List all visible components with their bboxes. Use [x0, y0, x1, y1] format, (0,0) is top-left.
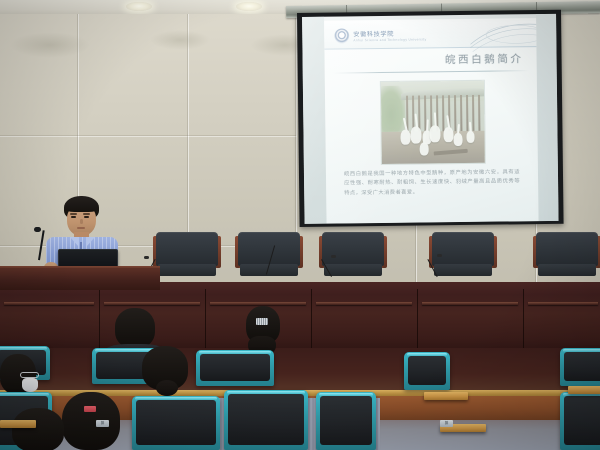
auditorium-seat[interactable] — [196, 350, 274, 386]
hair-clip — [256, 318, 268, 325]
microphone-head-icon — [144, 256, 149, 259]
auditorium-seat[interactable] — [132, 396, 220, 450]
wall-blemish — [10, 32, 90, 58]
seat-tablet-desk[interactable] — [424, 392, 468, 400]
dais-front-panel — [0, 282, 600, 352]
seat-number-plate: 排 — [96, 420, 109, 427]
slide-body-text: 皖西白鹅是我国一种地方特色中型鹅种，原产地为安徽六安，具有适应性强、耐寒耐热、耐… — [344, 168, 520, 198]
ceiling-downlight-2 — [236, 2, 262, 11]
podium-microphone-head-icon — [34, 227, 41, 232]
dais-reveal — [316, 302, 412, 305]
dais-seam — [99, 289, 100, 352]
dais-chair[interactable] — [156, 232, 218, 278]
face-mask — [22, 378, 38, 392]
auditorium-seat[interactable] — [560, 348, 600, 386]
microphone-head-icon — [331, 255, 336, 258]
auditorium-seat[interactable] — [560, 392, 600, 450]
seat-tablet-desk[interactable] — [568, 386, 600, 394]
projection-screen: 安徽科技学院 Anhui Science and Technology Univ… — [297, 10, 564, 227]
seat-tablet-desk[interactable] — [0, 420, 36, 428]
dais-reveal — [104, 302, 200, 305]
ceiling-downlight-1 — [126, 2, 152, 11]
projection-screen-surface: 安徽科技学院 Anhui Science and Technology Univ… — [302, 14, 559, 224]
audience-hair-bun — [156, 380, 178, 396]
presenter-collar — [70, 237, 79, 247]
dais-seam — [417, 289, 418, 352]
audience-head — [115, 308, 155, 348]
hair-tie — [84, 406, 96, 412]
dais-chair[interactable] — [536, 232, 598, 278]
goose — [429, 125, 440, 142]
university-emblem-icon — [334, 28, 349, 43]
slide-title-rule — [333, 70, 529, 73]
presenter-fringe — [65, 202, 98, 212]
goose — [400, 130, 410, 145]
wall-panel — [188, 136, 297, 247]
slide-photo-geese — [381, 81, 485, 164]
audience-head — [12, 408, 64, 450]
header-swoosh-decoration — [470, 18, 538, 52]
dais-seam — [205, 289, 206, 352]
auditorium-seat[interactable] — [404, 352, 450, 390]
wall-blemish — [150, 30, 210, 50]
lecture-hall-photo: 安徽科技学院 Anhui Science and Technology Univ… — [0, 0, 600, 450]
dais-seam — [311, 289, 312, 352]
dais-reveal — [4, 302, 94, 305]
presentation-slide: 安徽科技学院 Anhui Science and Technology Univ… — [324, 18, 538, 224]
wall-panel — [188, 14, 297, 137]
microphone-head-icon — [437, 254, 442, 257]
goose — [443, 127, 453, 142]
dais-seam — [523, 289, 524, 352]
university-name-cn: 安徽科技学院 — [353, 29, 394, 38]
dais-chair[interactable] — [238, 232, 300, 278]
podium — [0, 268, 160, 290]
auditorium-seat[interactable] — [224, 390, 308, 450]
goose — [410, 126, 421, 143]
presenter-collar — [86, 237, 95, 247]
slide-header: 安徽科技学院 Anhui Science and Technology Univ… — [324, 21, 536, 50]
dais-reveal — [210, 302, 306, 305]
university-name-en: Anhui Science and Technology University — [353, 37, 426, 42]
auditorium-seat[interactable] — [316, 392, 376, 450]
seat-number-plate: 排 — [440, 420, 453, 427]
dais-reveal — [528, 302, 598, 305]
slide-title: 皖西白鹅简介 — [445, 51, 524, 67]
slide-right-margin — [536, 14, 559, 221]
audience-head — [62, 392, 120, 450]
slide-left-margin — [302, 17, 327, 224]
dais-reveal — [422, 302, 518, 305]
